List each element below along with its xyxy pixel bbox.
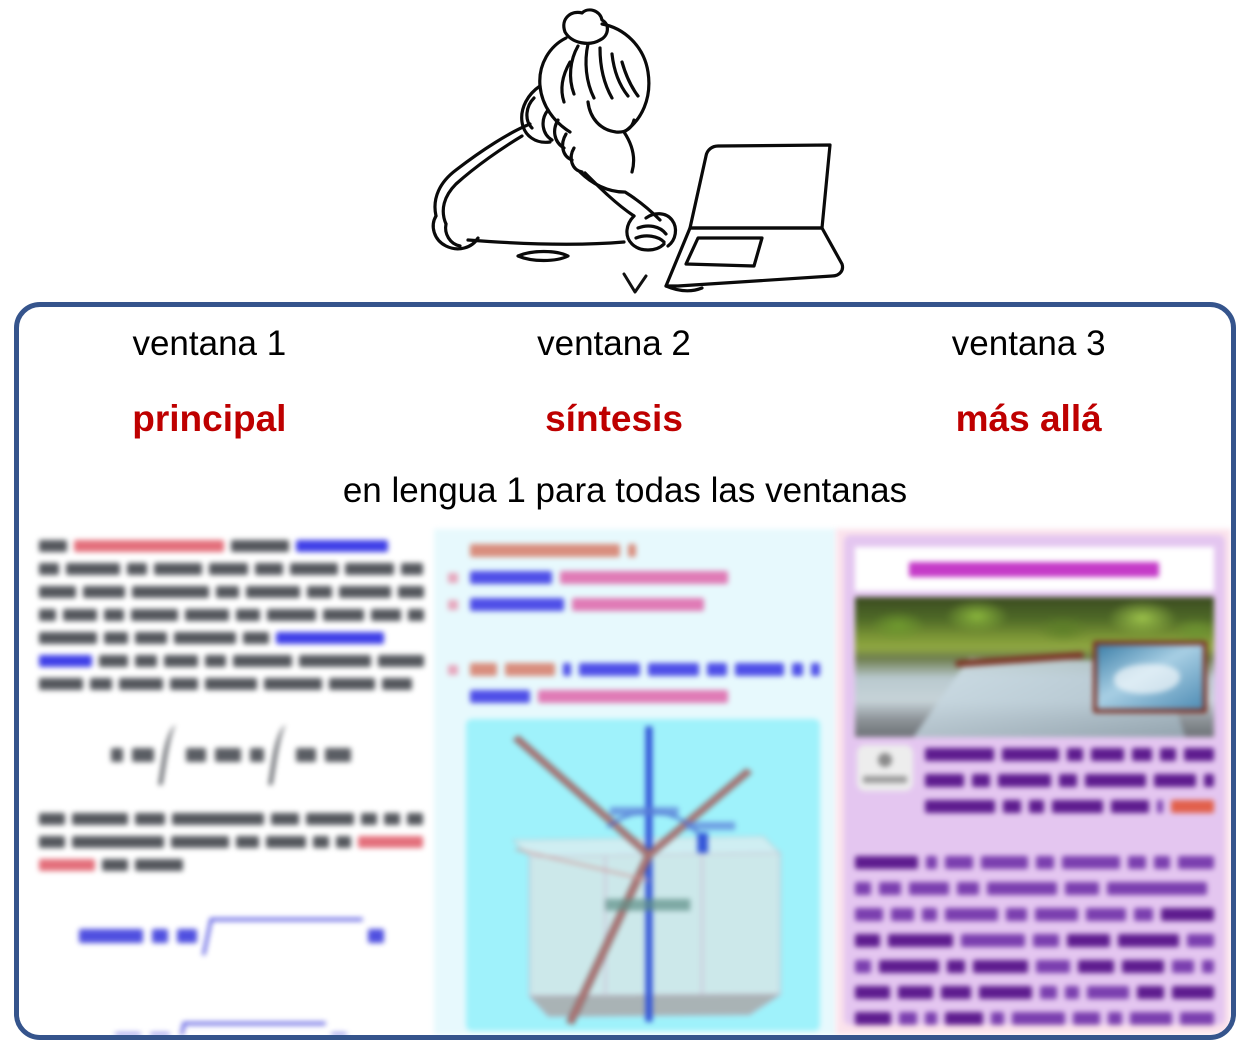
- optics-3d-diagram: [466, 719, 820, 1031]
- exercise-slide: [844, 535, 1225, 1025]
- language-note: en lengua 1 para todas las ventanas: [19, 472, 1231, 511]
- distance-formula-2: [39, 1001, 424, 1035]
- window-role-2: síntesis: [412, 399, 817, 440]
- bullet-marker: [448, 573, 458, 583]
- panel-previews: [19, 529, 1231, 1035]
- slide-title-bar: [855, 547, 1214, 591]
- refraction-diagram-svg: [466, 719, 820, 1031]
- distance-formula-1: [39, 897, 424, 975]
- student-at-laptop-line-drawing: [410, 2, 850, 294]
- document-text-block: [39, 539, 424, 1035]
- bullet-marker: [448, 665, 458, 675]
- down-arrow-icon: [618, 268, 652, 302]
- windshield-photo: [855, 597, 1214, 737]
- window-role-row: principal síntesis más allá: [19, 399, 1231, 440]
- window-label-2: ventana 2: [412, 325, 817, 364]
- bullet-marker: [448, 600, 458, 610]
- exercise-body-lines: [855, 855, 1214, 1025]
- illustration-area: [0, 0, 1254, 300]
- panel-ventana-3-mas-alla: [836, 529, 1231, 1035]
- card-header: ventana 1 ventana 2 ventana 3 principal …: [19, 307, 1231, 529]
- window-label-3: ventana 3: [826, 325, 1231, 364]
- panel-ventana-2-sintesis: [434, 529, 836, 1035]
- question-lines: [925, 747, 1214, 825]
- panel-ventana-1-principal: [19, 529, 434, 1035]
- document-icon: [857, 745, 913, 791]
- inset-screen-photo: [1093, 641, 1207, 713]
- foliage-background: [855, 597, 1214, 645]
- summary-bullet-block: [448, 543, 820, 716]
- document-icon-caption: [863, 776, 907, 783]
- document-icon-glyph: [878, 753, 892, 767]
- window-label-1: ventana 1: [14, 325, 412, 364]
- windows-card: ventana 1 ventana 2 ventana 3 principal …: [14, 302, 1236, 1040]
- window-role-1: principal: [14, 399, 412, 440]
- window-label-row: ventana 1 ventana 2 ventana 3: [19, 325, 1231, 364]
- integral-formula: [39, 716, 424, 794]
- window-role-3: más allá: [826, 399, 1231, 440]
- exercise-text-block: [855, 743, 1214, 1017]
